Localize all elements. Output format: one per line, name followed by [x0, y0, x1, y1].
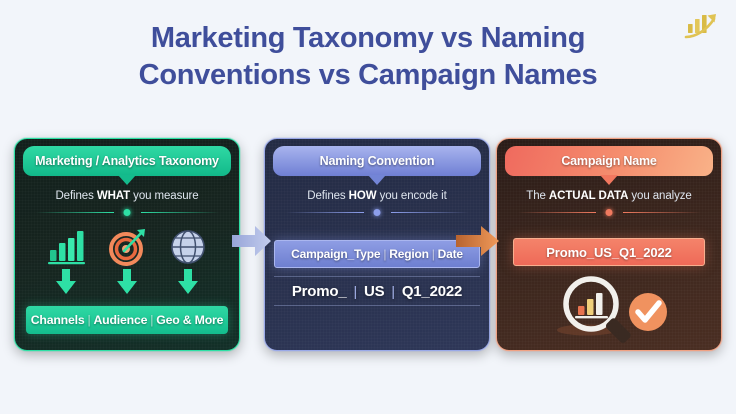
card-campaign-divider — [518, 209, 701, 216]
card-taxonomy-divider — [36, 209, 219, 216]
divider-line-right — [141, 212, 219, 213]
taxonomy-icon-audience[interactable] — [105, 226, 149, 295]
separator: | — [150, 313, 153, 327]
magnifier-bar-chart-icon — [545, 272, 673, 344]
card-naming-divider — [286, 209, 469, 216]
card-taxonomy-banner: Marketing / Analytics Taxonomy — [23, 146, 231, 176]
separator: | — [432, 247, 435, 261]
card-campaign-banner: Campaign Name — [505, 146, 713, 176]
subtitle-emphasis: WHAT — [97, 190, 130, 202]
subtitle-emphasis: HOW — [349, 190, 377, 202]
down-arrow-icon — [112, 269, 142, 295]
pattern-part-region: Region — [389, 247, 428, 261]
footer-part-audience: Audience — [93, 313, 147, 327]
divider-line-left — [286, 212, 364, 213]
card-campaign-name[interactable]: Campaign Name The ACTUAL DATA you analyz… — [496, 138, 722, 351]
campaign-value-pill[interactable]: Promo_US_Q1_2022 — [513, 238, 705, 266]
arrow-naming-to-campaign — [456, 224, 500, 263]
separator: | — [383, 247, 386, 261]
card-campaign-banner-label: Campaign Name — [561, 154, 656, 168]
globe-icon — [166, 226, 210, 268]
example-part-quarter: Q1_2022 — [402, 283, 462, 300]
taxonomy-footer-pill[interactable]: Channels | Audience | Geo & More — [26, 306, 228, 334]
footer-part-channels: Channels — [31, 313, 85, 327]
subtitle-suffix: you analyze — [628, 190, 691, 202]
taxonomy-icon-geo[interactable] — [166, 226, 210, 295]
card-naming-subtitle: Defines HOW you encode it — [265, 190, 489, 202]
check-circle-icon — [629, 293, 667, 331]
card-taxonomy-banner-label: Marketing / Analytics Taxonomy — [35, 154, 219, 168]
campaign-value-label: Promo_US_Q1_2022 — [546, 245, 672, 260]
divider-dot — [124, 209, 131, 216]
subtitle-prefix: Defines — [55, 190, 96, 202]
divider-dot — [374, 209, 381, 216]
divider-line-right — [391, 212, 469, 213]
naming-pattern-pill[interactable]: Campaign_Type | Region | Date — [274, 240, 480, 268]
naming-example-row: Promo_ | US | Q1_2022 — [274, 276, 480, 306]
example-part-us: US — [364, 283, 384, 300]
divider-dot — [606, 209, 613, 216]
banner-notch — [118, 175, 136, 185]
taxonomy-icon-channels[interactable] — [44, 226, 88, 295]
subtitle-suffix: you encode it — [376, 190, 446, 202]
example-part-promo: Promo_ — [292, 283, 347, 300]
footer-part-geo: Geo & More — [156, 313, 223, 327]
separator: | — [354, 283, 357, 299]
card-campaign-subtitle: The ACTUAL DATA you analyze — [497, 190, 721, 202]
divider-line-right — [623, 212, 701, 213]
subtitle-suffix: you measure — [130, 190, 198, 202]
arrow-taxonomy-to-naming — [232, 224, 272, 263]
bar-chart-icon — [44, 226, 88, 268]
divider-line-left — [518, 212, 596, 213]
subtitle-prefix: Defines — [307, 190, 348, 202]
subtitle-emphasis: ACTUAL DATA — [549, 190, 628, 202]
taxonomy-icon-row — [15, 226, 239, 295]
card-naming-banner-label: Naming Convention — [320, 154, 435, 168]
banner-notch — [600, 175, 618, 185]
subtitle-prefix: The — [526, 190, 549, 202]
down-arrow-icon — [173, 269, 203, 295]
separator: | — [391, 283, 394, 299]
card-taxonomy-subtitle: Defines WHAT you measure — [15, 190, 239, 202]
target-bullseye-icon — [105, 226, 149, 268]
card-taxonomy[interactable]: Marketing / Analytics Taxonomy Defines W… — [14, 138, 240, 351]
campaign-analysis-icons — [497, 272, 721, 344]
banner-notch — [368, 175, 386, 185]
cards-row: Marketing / Analytics Taxonomy Defines W… — [0, 138, 736, 353]
page-title: Marketing Taxonomy vs Naming Conventions… — [0, 20, 736, 94]
divider-line-left — [36, 212, 114, 213]
down-arrow-icon — [51, 269, 81, 295]
separator: | — [87, 313, 90, 327]
card-naming-banner: Naming Convention — [273, 146, 481, 176]
pattern-part-campaign-type: Campaign_Type — [291, 247, 380, 261]
